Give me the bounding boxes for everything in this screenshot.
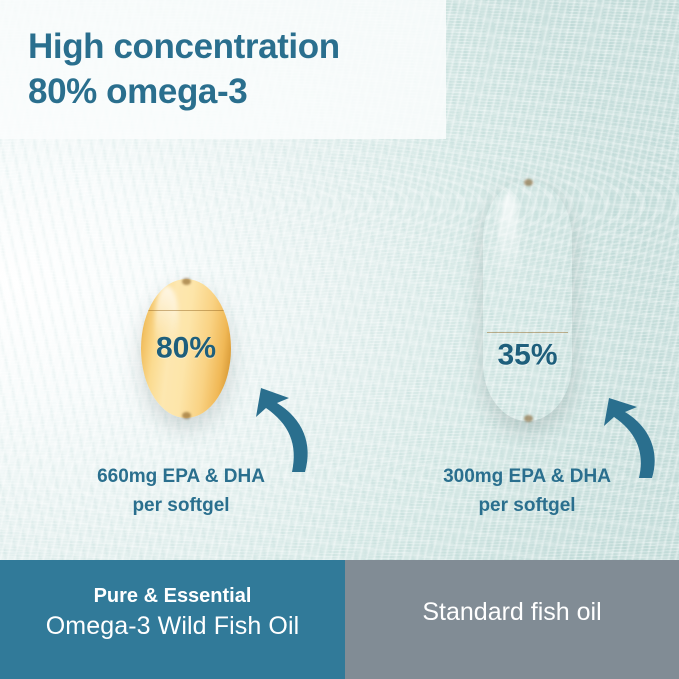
softgel-capsule-high-concentration: 80% — [141, 279, 231, 418]
softgel-capsule-standard: 35% — [483, 180, 572, 421]
capsule-body — [483, 180, 572, 421]
footer-product-name: Omega-3 Wild Fish Oil — [46, 610, 300, 643]
footer-panel-pure-essential: Pure & Essential Omega-3 Wild Fish Oil — [0, 560, 345, 679]
capsule-nub-top — [524, 179, 533, 186]
curved-arrow-icon-left — [243, 386, 319, 474]
footer-brand-name: Pure & Essential — [94, 582, 252, 610]
headline-banner: High concentration 80% omega-3 — [0, 0, 446, 139]
caption-right: 300mg EPA & DHA per softgel — [386, 462, 668, 521]
infographic-canvas: High concentration 80% omega-3 80% 35% 6… — [0, 0, 679, 679]
footer-comparison-bar: Pure & Essential Omega-3 Wild Fish Oil S… — [0, 560, 679, 679]
headline-line-2: 80% omega-3 — [28, 70, 446, 115]
caption-right-line-1: 300mg EPA & DHA — [386, 462, 668, 491]
capsule-highlight — [498, 192, 519, 303]
capsule-nub-bottom — [182, 412, 191, 419]
caption-left-line-2: per softgel — [36, 491, 326, 520]
caption-left-line-1: 660mg EPA & DHA — [36, 462, 326, 491]
capsule-percent-label: 35% — [483, 338, 572, 372]
caption-right-line-2: per softgel — [386, 491, 668, 520]
capsule-nub-bottom — [524, 415, 533, 422]
capsule-seam-line — [145, 310, 228, 311]
headline-line-1: High concentration — [28, 25, 446, 70]
footer-standard-label: Standard fish oil — [422, 596, 601, 629]
capsule-percent-label: 80% — [141, 331, 231, 365]
caption-left: 660mg EPA & DHA per softgel — [36, 462, 326, 521]
capsule-seam-line — [487, 332, 569, 333]
footer-panel-standard: Standard fish oil — [345, 560, 679, 679]
